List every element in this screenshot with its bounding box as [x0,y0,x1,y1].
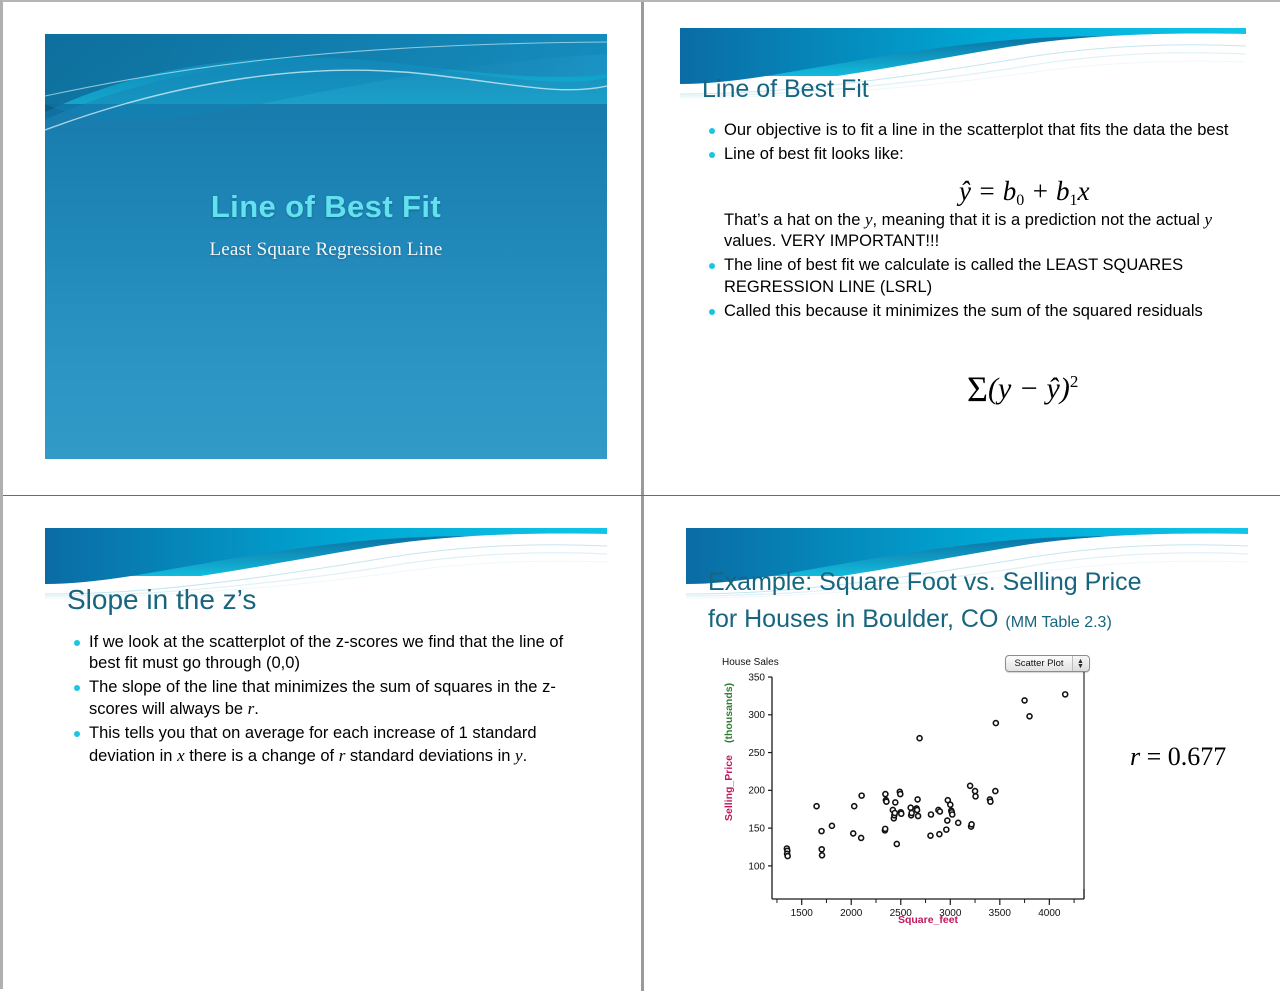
data-point [908,805,913,810]
data-point [915,797,920,802]
y-tick-label: 350 [748,672,765,683]
data-point [909,811,914,816]
data-point [829,823,834,828]
note-part-b: , meaning that it is a prediction not th… [873,211,1205,229]
slide-slope-cell: Slope in the z’s If we look at the scatt… [3,496,641,991]
slide-title-cell: Line of Best Fit Least Square Regression… [3,2,641,495]
x-tick-label: 4000 [1038,908,1061,919]
data-point [915,807,920,812]
title-line2-text: for Houses in Boulder, CO [708,605,998,633]
title-slide-subtitle: Least Square Regression Line [45,239,607,261]
data-point [988,799,993,804]
data-point [892,811,897,816]
note-part-a: That’s a hat on the [724,211,865,229]
slide-slope: Slope in the z’s If we look at the scatt… [45,528,607,964]
bullet-part-a: The slope of the line that minimizes the… [89,678,556,718]
y-axis-label: Selling_Price [723,755,735,821]
data-point [928,833,933,838]
y-tick-label: 150 [748,824,765,835]
data-point [851,831,856,836]
variable-y: y [1205,210,1213,229]
slide-example-title-line1: Example: Square Foot vs. Selling Price [708,568,1142,597]
data-point [948,802,953,807]
correlation-value: 0.677 [1168,742,1227,771]
data-point [916,814,921,819]
bullet-part-b: there is a change of [185,747,339,765]
scatter-plot-svg: House Sales 100150200250300350 150020002… [716,653,1096,928]
data-point [859,793,864,798]
x-axis-label: Square_feet [898,914,959,926]
slide-example-cell: Example: Square Foot vs. Selling Price f… [644,496,1280,991]
chart-type-popup-label: Scatter Plot [1006,659,1072,669]
bullet-item: Our objective is to fit a line in the sc… [702,120,1234,141]
data-point [956,820,961,825]
data-point [973,789,978,794]
equation-sum-squared-residuals: Σ(y − ŷ)2 [967,368,1078,410]
bullet-text: Line of best fit looks like: [724,145,904,163]
chevron-down-icon: ▼ [1077,664,1084,669]
bullet-item: This tells you that on average for each … [67,723,595,766]
chart-type-popup-button[interactable]: Scatter Plot ▲ ▼ [1005,655,1090,672]
data-point [969,822,974,827]
variable-y: y [515,746,523,765]
stepper-arrows-icon[interactable]: ▲ ▼ [1072,656,1088,671]
note-part-c: values. VERY IMPORTANT!!! [724,232,939,250]
data-point [819,829,824,834]
bullet-part-b: . [254,700,259,718]
slide-best-fit: Line of Best Fit Our objective is to fit… [680,28,1246,468]
data-point [785,854,790,859]
equation-line-of-best-fit: ŷ = b0 + b1x [959,176,1089,210]
data-point [1063,692,1068,697]
slide-example-title-line2: for Houses in Boulder, CO (MM Table 2.3) [708,605,1112,634]
x-tick-label: 1500 [791,908,814,919]
data-point [973,794,978,799]
x-tick-label: 3500 [989,908,1012,919]
variable-y: y [865,210,873,229]
slide-best-fit-title: Line of Best Fit [702,75,869,104]
slide-example: Example: Square Foot vs. Selling Price f… [686,528,1248,964]
y-axis-units-label: (thousands) [723,683,735,743]
bullet-item: The slope of the line that minimizes the… [67,677,595,720]
data-point [894,841,899,846]
x-tick-label: 2000 [840,908,863,919]
slide-slope-title: Slope in the z’s [67,584,256,616]
slide-best-fit-bullets: Our objective is to fit a line in the sc… [702,120,1234,325]
data-point [937,809,942,814]
data-point [898,792,903,797]
data-point [893,800,898,805]
y-tick-label: 250 [748,748,765,759]
y-tick-label: 200 [748,786,765,797]
y-tick-label: 300 [748,710,765,721]
bullet-item: If we look at the scatterplot of the z-s… [67,632,595,674]
data-point [899,811,904,816]
data-point [883,792,888,797]
data-point [950,812,955,817]
variable-x: x [177,746,185,765]
note-paragraph: That’s a hat on the y, meaning that it i… [702,209,1234,252]
data-point [928,812,933,817]
data-point [917,736,922,741]
correlation-equals: = [1147,742,1162,771]
data-point [819,847,824,852]
title-citation: (MM Table 2.3) [1005,614,1111,631]
bullet-item: The line of best fit we calculate is cal… [702,255,1234,297]
data-point [814,804,819,809]
correlation-label: r [1130,742,1140,771]
data-point [820,853,825,858]
slide-slope-bullets: If we look at the scatterplot of the z-s… [67,632,595,770]
bullet-item: Line of best fit looks like: [702,144,1234,165]
data-point [852,804,857,809]
data-point [993,721,998,726]
bullet-part-c: standard deviations in [345,747,515,765]
data-point [883,826,888,831]
data-point [859,835,864,840]
data-point [993,789,998,794]
data-point [1022,698,1027,703]
bullet-part-d: . [523,747,528,765]
data-point [944,827,949,832]
data-point [884,799,889,804]
slide-best-fit-cell: Line of Best Fit Our objective is to fit… [644,2,1280,495]
handout-page: Line of Best Fit Least Square Regression… [0,0,1280,989]
title-slide-heading: Line of Best Fit [45,189,607,225]
scatter-plot: House Sales 100150200250300350 150020002… [716,653,1096,928]
y-tick-label: 100 [748,861,765,872]
title-slide: Line of Best Fit Least Square Regression… [45,34,607,459]
data-point [937,832,942,837]
data-point [968,783,973,788]
data-point [1027,714,1032,719]
chart-title-text: House Sales [722,657,779,668]
correlation-annotation: r = 0.677 [1130,742,1226,772]
data-point [945,818,950,823]
bullet-item: Called this because it minimizes the sum… [702,301,1234,322]
